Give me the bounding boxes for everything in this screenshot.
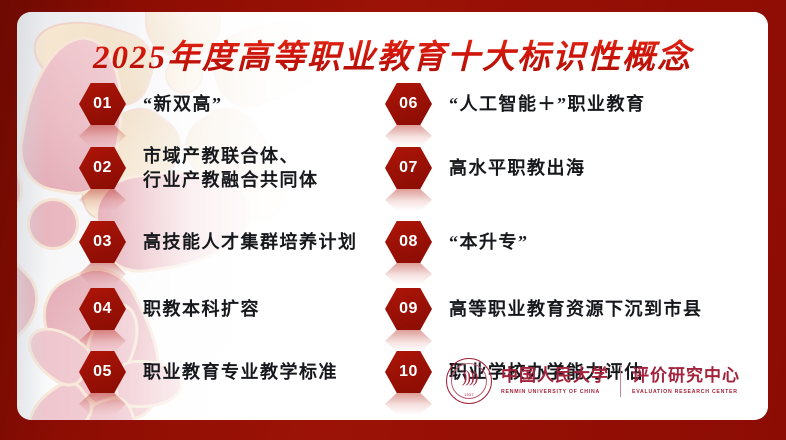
hex-badge-reflection <box>385 330 432 352</box>
list-item-label: “新双高” <box>143 92 223 116</box>
list-item-label: 高技能人才集群培养计划 <box>143 230 358 254</box>
list-item[interactable]: 01 “新双高” <box>79 82 223 126</box>
hex-badge-icon: 08 <box>385 221 432 263</box>
badge-wrap: 02 <box>79 147 126 189</box>
poster-root: 2025年度高等职业教育十大标识性概念 01 “新双高” 02 <box>0 0 786 440</box>
university-name-block: 中国人民大学 RENMIN UNIVERSITY OF CHINA <box>501 367 609 395</box>
hex-badge-icon: 04 <box>79 288 126 330</box>
list-item[interactable]: 04 职教本科扩容 <box>79 287 260 331</box>
badge-wrap: 08 <box>385 221 432 263</box>
hex-badge-icon: 03 <box>79 221 126 263</box>
list-item[interactable]: 05 职业教育专业教学标准 <box>79 350 338 394</box>
footer-logo: )))) 1937 中国人民大学 RENMIN UNIVERSITY OF CH… <box>446 358 740 404</box>
hex-badge-icon: 02 <box>79 147 126 189</box>
list-item[interactable]: 08 “本升专” <box>385 220 529 264</box>
hex-badge-icon: 10 <box>385 351 432 393</box>
list-item[interactable]: 03 高技能人才集群培养计划 <box>79 220 358 264</box>
university-name-en: RENMIN UNIVERSITY OF CHINA <box>501 389 609 395</box>
hex-badge-reflection <box>79 125 126 147</box>
university-name-cn: 中国人民大学 <box>501 367 609 386</box>
badge-wrap: 10 <box>385 351 432 393</box>
hex-badge-reflection <box>385 263 432 285</box>
list-item[interactable]: 02 市域产教联合体、 行业产教融合共同体 <box>79 146 319 190</box>
list-item-label: 职教本科扩容 <box>143 297 260 321</box>
list-item[interactable]: 07 高水平职教出海 <box>385 146 586 190</box>
poster-content: 2025年度高等职业教育十大标识性概念 01 “新双高” 02 <box>17 12 768 420</box>
badge-wrap: 07 <box>385 147 432 189</box>
list-item-label: “人工智能＋”职业教育 <box>449 92 646 116</box>
seal-glyph: )))) <box>447 368 491 385</box>
hex-badge-icon: 05 <box>79 351 126 393</box>
badge-wrap: 06 <box>385 83 432 125</box>
hex-badge-reflection <box>385 189 432 211</box>
hex-badge-icon: 06 <box>385 83 432 125</box>
hex-badge-icon: 01 <box>79 83 126 125</box>
badge-wrap: 04 <box>79 288 126 330</box>
badge-wrap: 05 <box>79 351 126 393</box>
university-seal-icon: )))) 1937 <box>446 358 492 404</box>
list-item-label: 高水平职教出海 <box>449 156 586 180</box>
list-item[interactable]: 09 高等职业教育资源下沉到市县 <box>385 287 703 331</box>
badge-wrap: 01 <box>79 83 126 125</box>
hex-badge-reflection <box>385 125 432 147</box>
center-name-cn: 评价研究中心 <box>632 367 740 386</box>
hex-badge-reflection <box>385 393 432 415</box>
seal-year: 1937 <box>447 392 491 397</box>
hex-badge-reflection <box>79 189 126 211</box>
page-title: 2025年度高等职业教育十大标识性概念 <box>17 30 768 78</box>
hex-badge-icon: 07 <box>385 147 432 189</box>
hex-badge-reflection <box>79 330 126 352</box>
hex-badge-reflection <box>79 393 126 415</box>
center-name-en: EVALUATION RESEARCH CENTER <box>632 389 740 395</box>
hex-badge-reflection <box>79 263 126 285</box>
list-item-label: “本升专” <box>449 230 529 254</box>
center-name-block: 评价研究中心 EVALUATION RESEARCH CENTER <box>632 367 740 395</box>
list-item[interactable]: 06 “人工智能＋”职业教育 <box>385 82 646 126</box>
list-item-label: 市域产教联合体、 行业产教融合共同体 <box>143 144 319 193</box>
badge-wrap: 09 <box>385 288 432 330</box>
list-item-label: 职业教育专业教学标准 <box>143 360 338 384</box>
poster-card: 2025年度高等职业教育十大标识性概念 01 “新双高” 02 <box>17 12 768 420</box>
list-item-label: 高等职业教育资源下沉到市县 <box>449 297 703 321</box>
badge-wrap: 03 <box>79 221 126 263</box>
hex-badge-icon: 09 <box>385 288 432 330</box>
logo-divider <box>620 365 621 397</box>
